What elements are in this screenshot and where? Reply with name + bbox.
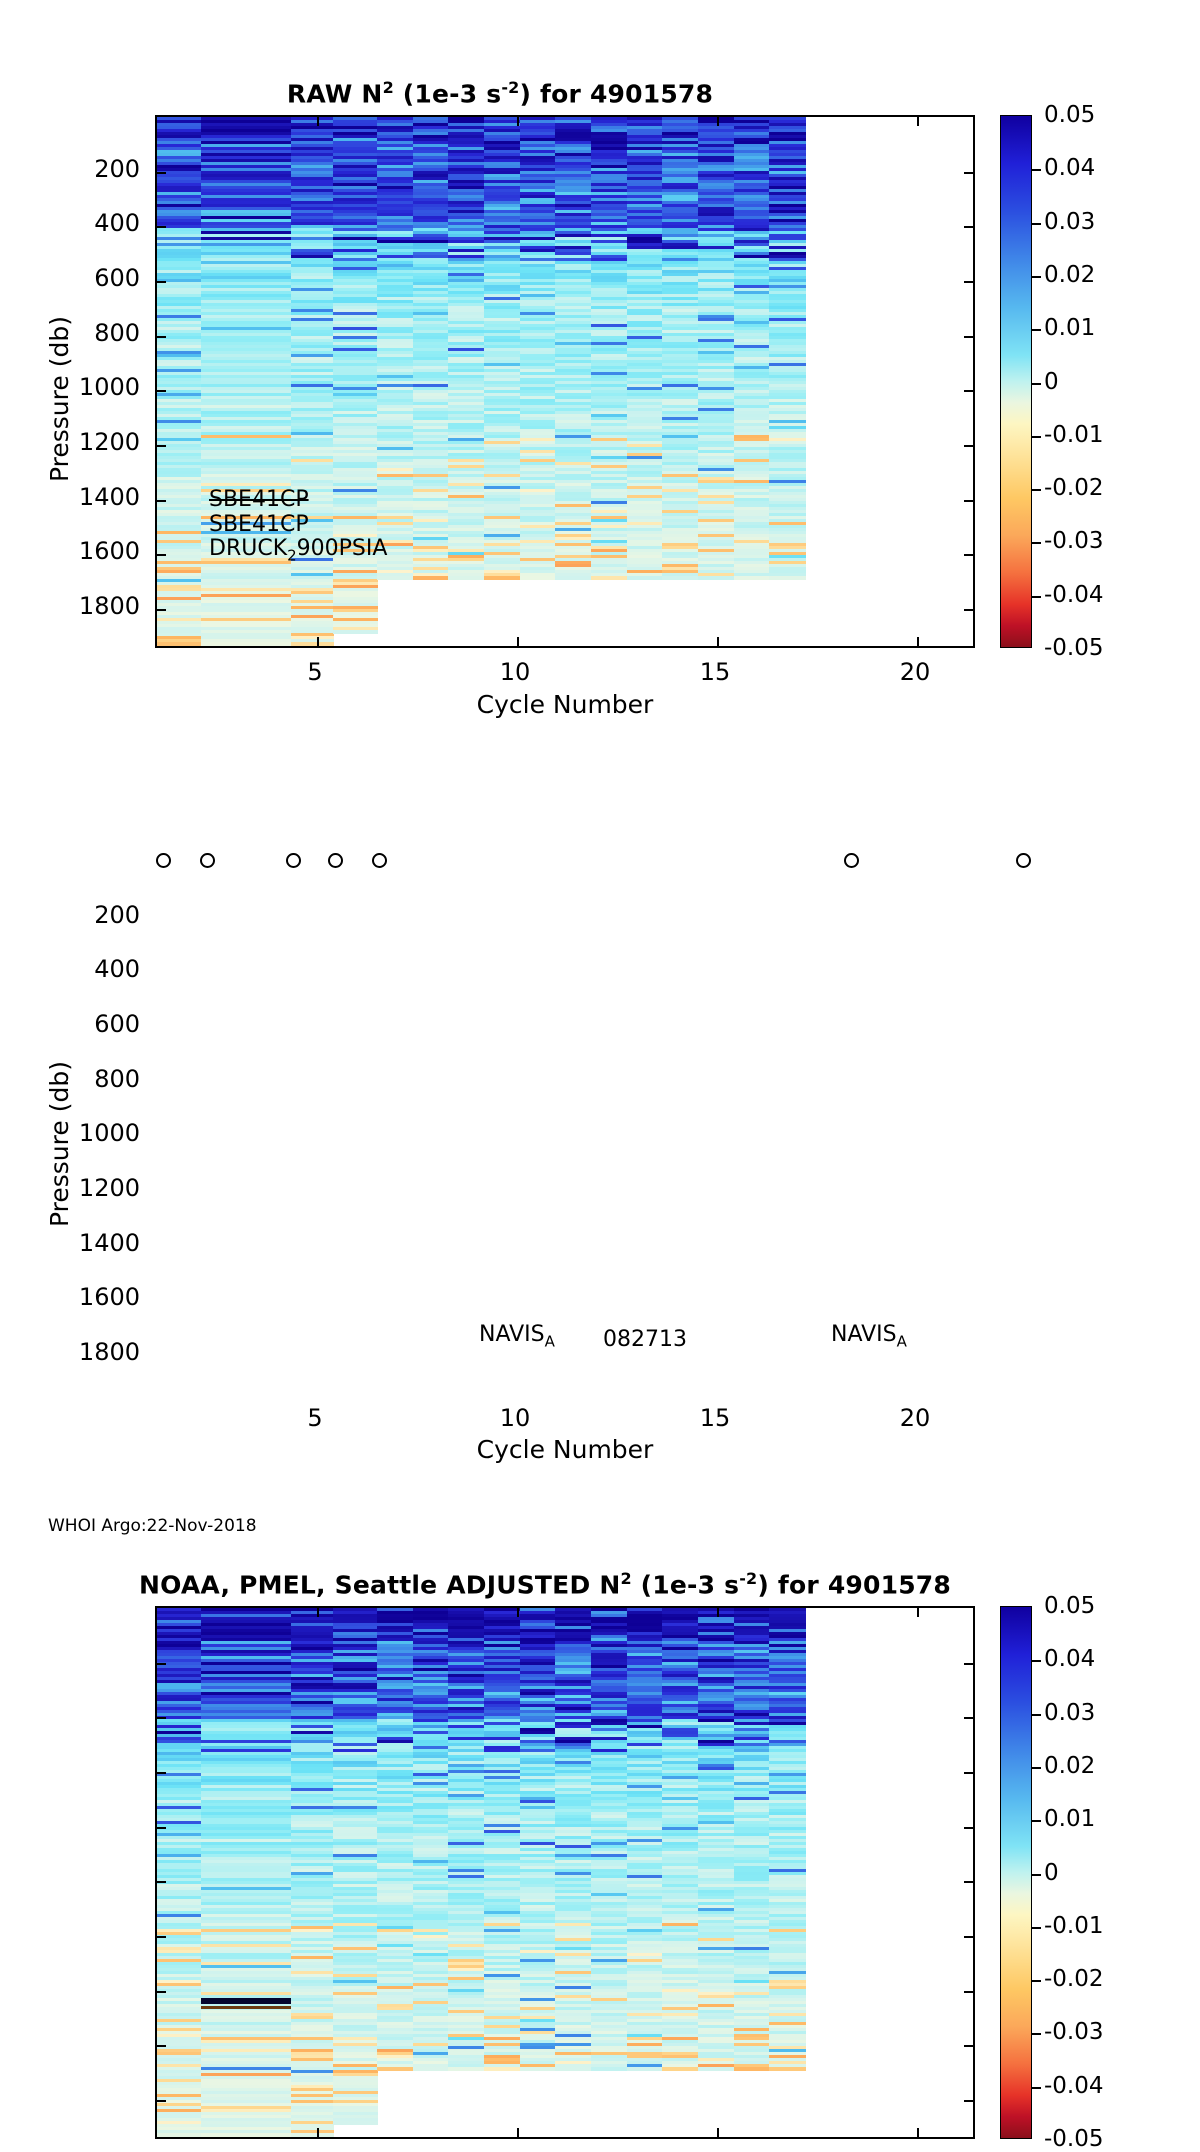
raw-colorbar[interactable] [1000, 115, 1032, 648]
y-tick-label: 600 [20, 1010, 140, 1038]
x-tick-mark [317, 2128, 319, 2137]
colorbar-tick [1031, 223, 1041, 225]
colorbar-tick-label: 0.01 [1044, 315, 1095, 341]
dark-feature-band [201, 1998, 291, 2004]
colorbar-tick [1031, 596, 1041, 598]
x-tick-mark [317, 637, 319, 646]
y-tick-mark [157, 336, 166, 338]
colorbar-tick [1031, 2087, 1041, 2089]
colorbar-tick [1031, 1767, 1041, 1769]
colorbar-tick-label: -0.02 [1044, 475, 1104, 501]
adjusted-y-axis-title: Pressure (db) [45, 1061, 74, 1227]
colorbar-tick-label: 0.02 [1044, 262, 1095, 288]
colorbar-tick [1031, 276, 1041, 278]
heatmap-column [201, 1608, 291, 2136]
y-tick-mark [964, 554, 973, 556]
colorbar-tick-label: -0.03 [1044, 528, 1104, 554]
footer-credit: WHOI Argo:22-Nov-2018 [48, 1516, 257, 1536]
x-tick-mark [717, 1608, 719, 1617]
colorbar-tick-label: 0.03 [1044, 1700, 1095, 1726]
colorbar-tick [1031, 383, 1041, 385]
colorbar-tick-label: -0.02 [1044, 1966, 1104, 1992]
y-tick-mark [157, 1936, 166, 1938]
y-tick-label: 1800 [20, 1338, 140, 1366]
x-tick-mark [717, 637, 719, 646]
x-tick-mark [717, 2128, 719, 2137]
colorbar-tick [1031, 1874, 1041, 1876]
x-tick-mark [917, 2128, 919, 2137]
colorbar-tick-label: 0.04 [1044, 155, 1095, 181]
x-tick-mark [517, 637, 519, 646]
x-tick-label: 5 [280, 658, 350, 686]
y-tick-label: 200 [20, 901, 140, 929]
heatmap-column [291, 1608, 333, 2136]
y-tick-label: 1000 [20, 373, 140, 401]
y-tick-label: 1600 [20, 537, 140, 565]
raw-title-end: ) for 4901578 [520, 79, 714, 108]
y-tick-mark [964, 500, 973, 502]
plot-annotation: NAVISA [831, 1322, 907, 1350]
y-tick-mark [157, 500, 166, 502]
y-tick-mark [157, 445, 166, 447]
y-tick-label: 800 [20, 319, 140, 347]
colorbar-tick-label: -0.05 [1044, 635, 1104, 661]
y-tick-mark [157, 1772, 166, 1774]
y-tick-mark [964, 1827, 973, 1829]
x-tick-mark [517, 117, 519, 126]
y-tick-mark [964, 2045, 973, 2047]
x-tick-mark [917, 637, 919, 646]
y-tick-label: 800 [20, 1065, 140, 1093]
colorbar-tick-label: 0.04 [1044, 1646, 1095, 1672]
y-tick-mark [964, 1936, 973, 1938]
y-tick-mark [157, 1991, 166, 1993]
y-tick-label: 1400 [20, 1229, 140, 1257]
x-tick-mark [517, 1608, 519, 1617]
y-tick-label: 1400 [20, 483, 140, 511]
colorbar-tick-label: 0.03 [1044, 209, 1095, 235]
y-tick-mark [964, 226, 973, 228]
colorbar-tick [1031, 436, 1041, 438]
y-tick-mark [157, 1663, 166, 1665]
y-tick-mark [157, 172, 166, 174]
y-tick-label: 400 [20, 209, 140, 237]
x-tick-label: 10 [480, 658, 550, 686]
colorbar-tick-label: 0.01 [1044, 1806, 1095, 1832]
adjusted-panel: NOAA, PMEL, Seattle ADJUSTED N2 (1e-3 s-… [0, 745, 1200, 1505]
colorbar-tick-label: -0.03 [1044, 2019, 1104, 2045]
colorbar-tick [1031, 329, 1041, 331]
heatmap-column [333, 1608, 377, 2122]
plot-annotation: 082713 [603, 1327, 687, 1352]
raw-panel: RAW N2 (1e-3 s-2) for 4901578 5101520 20… [0, 0, 1200, 760]
plot-annotation: DRUCK2900PSIA [209, 536, 387, 564]
plot-annotation: SBE41CP [209, 512, 309, 537]
x-tick-label: 15 [680, 658, 750, 686]
y-tick-mark [964, 390, 973, 392]
adj-title-sup: 2 [620, 1569, 631, 1588]
colorbar-tick-label: 0.02 [1044, 1753, 1095, 1779]
y-tick-label: 200 [20, 155, 140, 183]
raw-title-mid: (1e-3 s [394, 79, 501, 108]
y-tick-mark [964, 1881, 973, 1883]
y-tick-mark [964, 172, 973, 174]
y-tick-label: 1200 [20, 428, 140, 456]
colorbar-tick [1031, 489, 1041, 491]
colorbar-tick-label: -0.04 [1044, 2073, 1104, 2099]
raw-x-axis-title: Cycle Number [155, 690, 975, 719]
adjusted-heatmap-area [157, 1608, 973, 2137]
y-tick-mark [964, 1663, 973, 1665]
y-tick-mark [964, 1772, 973, 1774]
adjusted-plot-title: NOAA, PMEL, Seattle ADJUSTED N2 (1e-3 s-… [0, 1569, 1090, 1599]
y-tick-label: 1800 [20, 592, 140, 620]
plot-annotation: SBE41CP [209, 487, 309, 512]
adj-title-sup2: -2 [739, 1569, 757, 1588]
plot-annotation: NAVISA [479, 1322, 555, 1350]
colorbar-tick-label: 0 [1044, 1860, 1059, 1886]
dark-feature-band-secondary [201, 2006, 291, 2009]
x-tick-mark [717, 117, 719, 126]
x-tick-mark [917, 1608, 919, 1617]
colorbar-tick-label: -0.05 [1044, 2126, 1104, 2152]
heatmap-column [377, 1608, 805, 2070]
y-tick-mark [157, 281, 166, 283]
colorbar-tick-label: -0.01 [1044, 1913, 1104, 1939]
heatmap-column [291, 117, 333, 645]
cycle-marker-circle[interactable] [844, 853, 859, 868]
raw-heatmap-area [157, 117, 973, 646]
cycle-marker-circle[interactable] [156, 853, 171, 868]
colorbar-tick [1031, 1660, 1041, 1662]
y-tick-mark [964, 2100, 973, 2102]
colorbar-tick [1031, 1980, 1041, 1982]
y-tick-mark [964, 281, 973, 283]
cycle-marker-circle[interactable] [1016, 853, 1031, 868]
x-tick-mark [517, 2128, 519, 2137]
colorbar-tick-label: -0.04 [1044, 582, 1104, 608]
y-tick-mark [157, 2100, 166, 2102]
x-tick-mark [317, 1608, 319, 1617]
heatmap-column [157, 117, 201, 645]
colorbar-tick [1031, 2033, 1041, 2035]
y-tick-mark [157, 1881, 166, 1883]
cycle-marker-circle[interactable] [372, 853, 387, 868]
adjusted-colorbar-wrap: 0.050.040.030.020.010-0.01-0.02-0.03-0.0… [1000, 1606, 1032, 2139]
heatmap-column [377, 117, 805, 579]
cycle-marker-circle[interactable] [200, 853, 215, 868]
raw-y-axis-title: Pressure (db) [45, 316, 74, 482]
y-tick-mark [157, 1717, 166, 1719]
y-tick-mark [964, 445, 973, 447]
raw-colorbar-wrap: 0.050.040.030.020.010-0.01-0.02-0.03-0.0… [1000, 115, 1032, 648]
adjusted-x-axis-title: Cycle Number [155, 1435, 975, 1464]
y-tick-mark [157, 609, 166, 611]
y-tick-mark [964, 1991, 973, 1993]
y-tick-mark [157, 554, 166, 556]
colorbar-tick [1031, 1714, 1041, 1716]
y-tick-mark [964, 609, 973, 611]
y-tick-mark [157, 1827, 166, 1829]
colorbar-tick [1031, 1927, 1041, 1929]
raw-axes [155, 115, 975, 648]
heatmap-column [201, 117, 291, 645]
x-tick-label: 5 [280, 1404, 350, 1432]
adjusted-colorbar[interactable] [1000, 1606, 1032, 2139]
raw-title-sup: 2 [383, 78, 394, 97]
colorbar-tick-label: -0.01 [1044, 422, 1104, 448]
y-tick-label: 1200 [20, 1174, 140, 1202]
colorbar-tick [1031, 169, 1041, 171]
y-tick-mark [157, 2045, 166, 2047]
colorbar-tick-label: 0.05 [1044, 102, 1095, 128]
colorbar-tick-label: 0 [1044, 369, 1059, 395]
y-tick-mark [964, 336, 973, 338]
y-tick-mark [157, 226, 166, 228]
raw-plot-title: RAW N2 (1e-3 s-2) for 4901578 [0, 78, 1000, 108]
raw-title-main: RAW N [287, 79, 383, 108]
y-tick-label: 600 [20, 264, 140, 292]
colorbar-tick-label: 0.05 [1044, 1593, 1095, 1619]
heatmap-column [157, 1608, 201, 2136]
cycle-marker-circle[interactable] [328, 853, 343, 868]
y-tick-mark [157, 390, 166, 392]
cycle-marker-circle[interactable] [286, 853, 301, 868]
x-tick-label: 10 [480, 1404, 550, 1432]
colorbar-tick [1031, 542, 1041, 544]
x-tick-mark [917, 117, 919, 126]
raw-title-sup2: -2 [501, 78, 519, 97]
colorbar-tick [1031, 1820, 1041, 1822]
y-tick-mark [964, 1717, 973, 1719]
x-tick-mark [317, 117, 319, 126]
y-tick-label: 400 [20, 955, 140, 983]
x-tick-label: 20 [880, 1404, 950, 1432]
x-tick-label: 20 [880, 658, 950, 686]
x-tick-label: 15 [680, 1404, 750, 1432]
y-tick-label: 1000 [20, 1119, 140, 1147]
y-tick-label: 1600 [20, 1283, 140, 1311]
adjusted-axes [155, 1606, 975, 2139]
